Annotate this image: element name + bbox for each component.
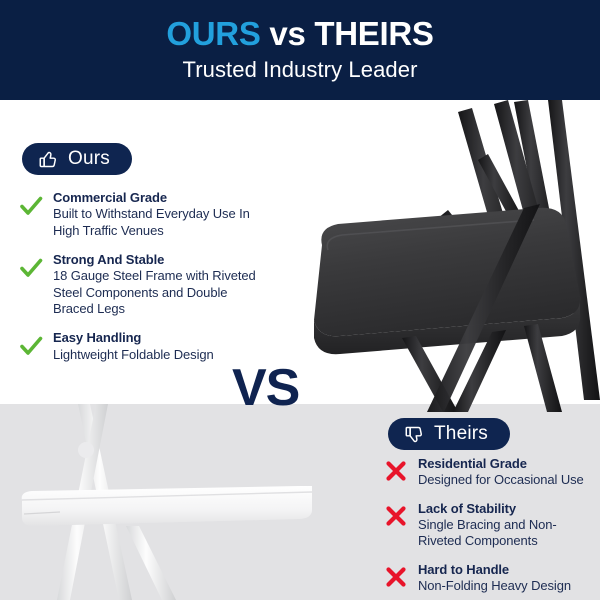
red-x-icon <box>383 503 409 529</box>
green-check-icon <box>18 333 44 359</box>
theirs-badge: Theirs <box>388 418 510 450</box>
feature-desc: 18 Gauge Steel Frame with Riveted Steel … <box>53 268 268 317</box>
thumbs-down-icon <box>404 424 425 445</box>
list-item: Strong And Stable 18 Gauge Steel Frame w… <box>18 252 268 317</box>
red-x-icon <box>383 564 409 590</box>
feature-desc: Non-Folding Heavy Design <box>418 578 598 594</box>
list-item: Residential Grade Designed for Occasiona… <box>383 456 598 489</box>
feature-desc: Designed for Occasional Use <box>418 472 598 488</box>
list-item: Hard to Handle Non-Folding Heavy Design <box>383 562 598 595</box>
title-ours: OURS <box>166 15 260 52</box>
theirs-feature-list: Residential Grade Designed for Occasiona… <box>383 456 598 594</box>
ours-feature-list: Commercial Grade Built to Withstand Ever… <box>18 190 268 363</box>
feature-text: Hard to Handle Non-Folding Heavy Design <box>418 562 598 595</box>
title-vs: vs <box>261 15 315 52</box>
feature-title: Easy Handling <box>53 330 268 346</box>
page-subtitle: Trusted Industry Leader <box>182 57 417 83</box>
feature-text: Residential Grade Designed for Occasiona… <box>418 456 598 489</box>
list-item: Commercial Grade Built to Withstand Ever… <box>18 190 268 239</box>
theirs-badge-label: Theirs <box>434 424 488 443</box>
feature-title: Commercial Grade <box>53 190 268 206</box>
feature-text: Lack of Stability Single Bracing and Non… <box>418 501 598 550</box>
list-item: Lack of Stability Single Bracing and Non… <box>383 501 598 550</box>
vs-divider-label: VS <box>232 362 299 414</box>
feature-title: Hard to Handle <box>418 562 598 578</box>
green-check-icon <box>18 193 44 219</box>
thumbs-up-icon <box>38 149 59 170</box>
white-folding-chair-photo <box>0 404 320 600</box>
black-folding-chair-photo <box>262 100 600 412</box>
header-banner: OURS vs THEIRS Trusted Industry Leader <box>0 0 600 100</box>
page-title: OURS vs THEIRS <box>166 17 433 52</box>
green-check-icon <box>18 255 44 281</box>
ours-badge: Ours <box>22 143 132 175</box>
red-x-icon <box>383 458 409 484</box>
feature-text: Strong And Stable 18 Gauge Steel Frame w… <box>53 252 268 317</box>
ours-badge-label: Ours <box>68 149 110 168</box>
title-theirs: THEIRS <box>314 15 433 52</box>
list-item: Easy Handling Lightweight Foldable Desig… <box>18 330 268 363</box>
feature-text: Commercial Grade Built to Withstand Ever… <box>53 190 268 239</box>
feature-desc: Built to Withstand Everyday Use In High … <box>53 206 268 239</box>
feature-desc: Single Bracing and Non-Riveted Component… <box>418 517 598 550</box>
feature-title: Strong And Stable <box>53 252 268 268</box>
feature-title: Residential Grade <box>418 456 598 472</box>
comparison-infographic: OURS vs THEIRS Trusted Industry Leader V… <box>0 0 600 600</box>
feature-title: Lack of Stability <box>418 501 598 517</box>
